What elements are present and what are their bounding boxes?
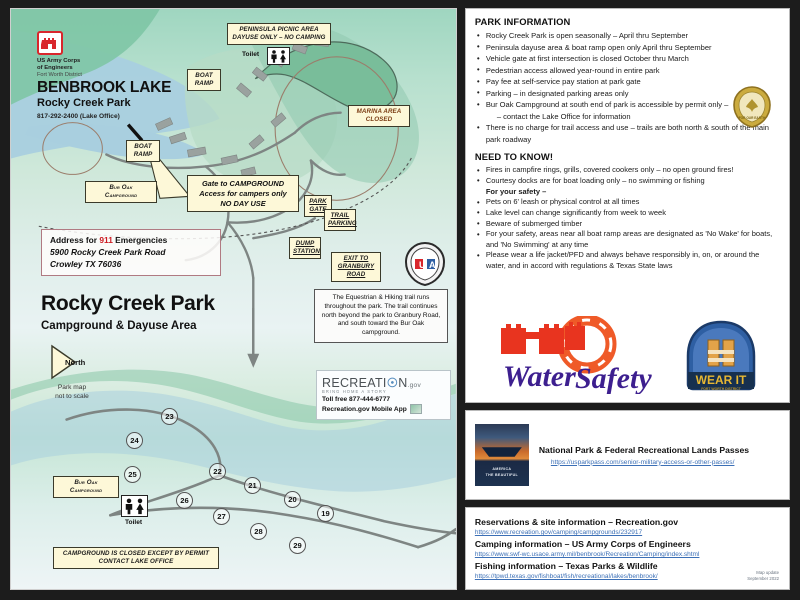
usace-line2: of Engineers	[37, 65, 82, 72]
recreation-gov-tagline: BRING HOME A STORY	[322, 389, 445, 394]
label-peninsula-picnic-area: Peninsula Picnic Area Dayuse Only – No C…	[227, 23, 331, 45]
toilet-label-peninsula: Toilet	[242, 51, 259, 58]
man-icon	[124, 498, 134, 515]
campsite-marker[interactable]: 27	[213, 508, 230, 525]
campsite-marker[interactable]: 19	[317, 505, 334, 522]
map-scale-note: Park map not to scale	[41, 384, 103, 402]
link-title-reservations: Reservations & site information – Recrea…	[475, 517, 780, 527]
safety-logos-row: Water Safety WE	[466, 316, 789, 394]
wear-it-life-jacket-icon: WEAR IT FORT WORTH DISTRICT	[682, 316, 760, 394]
earth-shield-icon: FOR OUR EARTH	[731, 85, 773, 129]
lake-title: BENBROOK LAKE	[37, 79, 171, 97]
park-map-page: US Army Corps of Engineers Fort Worth Di…	[0, 0, 800, 600]
need-item: Please wear a life jacket/PFD and always…	[475, 250, 780, 271]
label-boat-ramp-north: Boat Ramp	[187, 69, 221, 91]
link-title-camping: Camping information – US Army Corps of E…	[475, 539, 780, 549]
toilet-icon-campground	[121, 495, 148, 517]
toilet-icon-peninsula	[267, 47, 290, 65]
castle-glyph	[41, 36, 59, 50]
north-arrow: North	[49, 344, 79, 385]
label-dump-station: Dump Station	[289, 237, 321, 259]
need-item: Fires in campfire rings, grills, covered…	[475, 165, 780, 176]
svg-text:FORT WORTH DISTRICT: FORT WORTH DISTRICT	[701, 387, 741, 391]
recreation-gov-wordmark: RECREATI☉N.gov	[322, 375, 445, 390]
park-title: Rocky Creek Park	[41, 292, 215, 316]
water-safety-icon: Water Safety	[495, 316, 655, 394]
park-subtitle: Campground & Dayuse Area	[41, 320, 197, 332]
need-item: Lake level can change significantly from…	[475, 208, 780, 219]
woman-icon	[279, 50, 287, 63]
need-item: For your safety, areas near all boat ram…	[475, 229, 780, 250]
campsite-marker[interactable]: 21	[244, 477, 261, 494]
trail-info-box: The Equestrian & Hiking trail runs throu…	[314, 289, 448, 343]
pass-image-caption: AMERICA THE BEAUTIFUL	[475, 467, 529, 478]
svg-text:A: A	[429, 260, 436, 270]
resource-links-card: Reservations & site information – Recrea…	[465, 507, 790, 590]
map-update-stamp: Map update September 2022	[747, 570, 779, 582]
info-item: Vehicle gate at first intersection is cl…	[475, 53, 780, 65]
label-campground-closed-notice: Campground is closed except by permit Co…	[53, 547, 219, 569]
emergency-address-street: 5900 Rocky Creek Park Road	[50, 247, 212, 257]
campsite-marker[interactable]: 24	[126, 432, 143, 449]
need-item-safety-header: For your safety –	[475, 187, 780, 198]
svg-text:Safety: Safety	[575, 362, 652, 394]
info-item: Pedestrian access allowed year-round in …	[475, 65, 780, 77]
water-safety-logo: Water Safety	[495, 316, 655, 394]
toilet-label-campground: Toilet	[125, 519, 142, 526]
svg-text:U: U	[419, 260, 426, 270]
lake-subtitle: Rocky Creek Park	[37, 97, 131, 109]
link-url-camping[interactable]: https://www.swf-wc.usace.army.mil/benbro…	[475, 551, 780, 558]
park-information-card: PARK INFORMATION Rocky Creek Park is ope…	[465, 8, 790, 403]
campsite-marker[interactable]: 29	[289, 537, 306, 554]
info-item: Peninsula dayuse area & boat ramp open o…	[475, 42, 780, 54]
pass-text-block: National Park & Federal Recreational Lan…	[539, 445, 780, 466]
park-information-heading: PARK INFORMATION	[475, 16, 780, 27]
svg-text:WEAR IT: WEAR IT	[695, 373, 746, 387]
label-exit-granbury-road: Exit to Granbury Road	[331, 252, 381, 282]
pass-title: National Park & Federal Recreational Lan…	[539, 445, 780, 455]
wear-it-logo: WEAR IT FORT WORTH DISTRICT	[682, 316, 760, 394]
usace-castle-icon	[37, 31, 63, 55]
label-marina-area-closed: Marina Area Closed	[348, 105, 410, 127]
label-boat-ramp-west: Boat Ramp	[126, 140, 160, 162]
emergency-address-heading: Address for 911 Emergencies	[50, 235, 212, 245]
callout-campground-gate: Gate to CAMPGROUND Access for campers on…	[187, 175, 299, 212]
need-item: Pets on 6' leash or physical control at …	[475, 197, 780, 208]
national-recreation-trail-badge: U A	[403, 241, 447, 287]
campsite-marker[interactable]: 26	[176, 492, 193, 509]
campsite-marker[interactable]: 20	[284, 491, 301, 508]
label-bur-oak-campground-south: Bur Oak Campground	[53, 476, 119, 498]
man-icon	[270, 50, 278, 63]
need-item: Beware of submerged timber	[475, 219, 780, 230]
campsite-marker[interactable]: 22	[209, 463, 226, 480]
label-trail-parking: Trail Parking	[324, 209, 356, 231]
usace-logo: US Army Corps of Engineers Fort Worth Di…	[37, 31, 82, 79]
svg-text:Water: Water	[503, 360, 576, 393]
emergency-address-box: Address for 911 Emergencies 5900 Rocky C…	[41, 229, 221, 276]
trail-badge-icon: U A	[403, 241, 447, 287]
usace-label: US Army Corps of Engineers Fort Worth Di…	[37, 58, 82, 79]
information-column: PARK INFORMATION Rocky Creek Park is ope…	[465, 8, 790, 590]
link-title-fishing: Fishing information – Texas Parks & Wild…	[475, 561, 780, 571]
link-url-fishing[interactable]: https://tpwd.texas.gov/fishboat/fish/rec…	[475, 573, 780, 580]
federal-lands-passes-card[interactable]: AMERICA THE BEAUTIFUL National Park & Fe…	[465, 410, 790, 500]
need-item: Courtesy docks are for boat loading only…	[475, 176, 780, 187]
info-item: Rocky Creek Park is open seasonally – Ap…	[475, 30, 780, 42]
svg-text:FOR OUR EARTH: FOR OUR EARTH	[739, 116, 766, 120]
campsite-marker[interactable]: 28	[250, 523, 267, 540]
pass-photo-shape	[482, 441, 522, 457]
woman-icon	[135, 498, 145, 515]
campsite-marker[interactable]: 23	[161, 408, 178, 425]
for-our-earth-badge: FOR OUR EARTH	[731, 85, 773, 129]
recreation-gov-mobile-app: Recreation.gov Mobile App	[322, 404, 445, 414]
recreation-gov-box[interactable]: RECREATI☉N.gov BRING HOME A STORY Toll f…	[316, 370, 451, 420]
need-to-know-heading: NEED TO KNOW!	[475, 151, 780, 162]
label-bur-oak-campground-north: Bur Oak Campground	[85, 181, 157, 203]
pass-url-link[interactable]: https://usparkpass.com/senior-military-a…	[539, 459, 780, 466]
link-url-reservations[interactable]: https://www.recreation.gov/camping/campg…	[475, 529, 780, 536]
need-to-know-list: Fires in campfire rings, grills, covered…	[475, 165, 780, 271]
usace-line1: US Army Corps	[37, 58, 82, 65]
park-map-graphic: US Army Corps of Engineers Fort Worth Di…	[10, 8, 457, 590]
app-qr-icon	[410, 404, 422, 414]
lake-office-phone: 817-292-2400 (Lake Office)	[37, 113, 120, 120]
recreation-gov-tollfree: Toll free 877-444-6777	[322, 396, 445, 403]
pass-card-inner: AMERICA THE BEAUTIFUL National Park & Fe…	[475, 418, 780, 492]
emergency-address-city: Crowley TX 76036	[50, 259, 212, 269]
north-arrow-label: North	[65, 358, 85, 367]
campsite-marker[interactable]: 25	[124, 466, 141, 483]
america-the-beautiful-pass-image: AMERICA THE BEAUTIFUL	[475, 424, 529, 486]
